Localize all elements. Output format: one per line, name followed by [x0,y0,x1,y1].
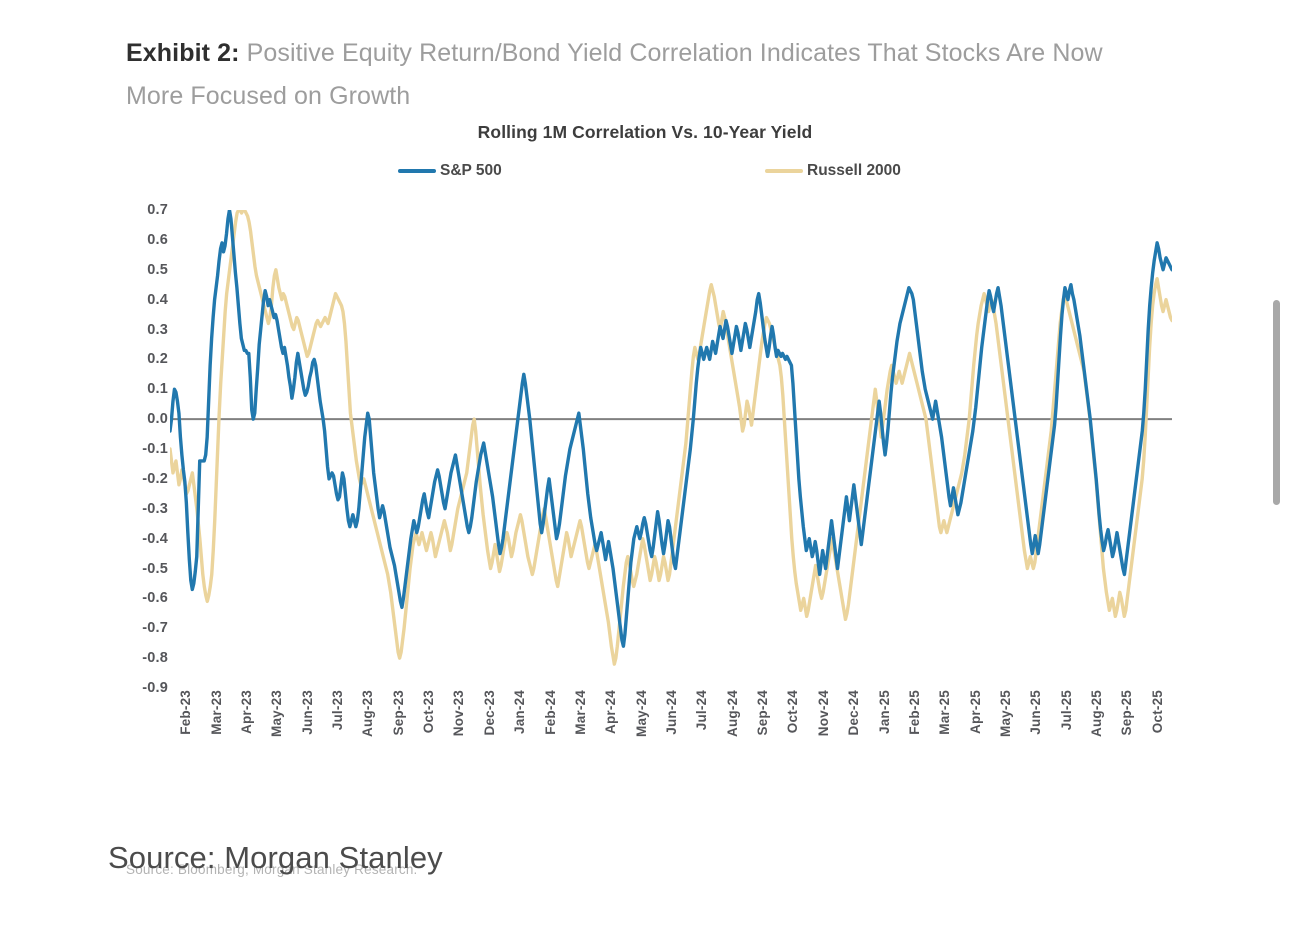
legend-swatch-sp500 [398,169,436,173]
x-axis-tick: May-23 [269,690,284,737]
exhibit-heading: Exhibit 2: Positive Equity Return/Bond Y… [126,32,1156,118]
x-axis-tick: Aug-25 [1089,690,1104,737]
x-axis-tick: Mar-24 [573,690,588,735]
bottom-caption: Source: Morgan Stanley [108,840,443,876]
y-axis-tick: -0.2 [110,471,168,487]
screenshot-root: Exhibit 2: Positive Equity Return/Bond Y… [0,0,1290,933]
x-axis-tick: Jul-24 [694,690,709,730]
x-axis-tick: Feb-25 [907,690,922,735]
chart-figure: Rolling 1M Correlation Vs. 10-Year Yield… [110,122,1180,812]
y-axis-tick: 0.5 [110,262,168,278]
y-axis-tick: 0.2 [110,351,168,367]
y-axis: 0.70.60.50.40.30.20.10.0-0.1-0.2-0.3-0.4… [110,210,168,688]
y-axis-tick: -0.4 [110,531,168,547]
x-axis-tick: Jun-24 [664,690,679,735]
y-axis-tick: 0.4 [110,292,168,308]
x-axis-tick: Aug-24 [725,690,740,737]
legend-swatch-russell2000 [765,169,803,173]
x-axis-tick: Jan-25 [877,690,892,734]
legend-item-sp500[interactable]: S&P 500 [398,162,502,180]
y-axis-tick: 0.6 [110,232,168,248]
x-axis-tick: Jun-25 [1028,690,1043,735]
x-axis-tick: Oct-23 [421,690,436,733]
y-axis-tick: -0.3 [110,501,168,517]
x-axis-tick: Jan-24 [512,690,527,734]
y-axis-tick: -0.9 [110,680,168,696]
x-axis-tick: Dec-23 [482,690,497,735]
x-axis-tick: Apr-23 [239,690,254,734]
x-axis-tick: Sep-23 [391,690,406,735]
chart-title: Rolling 1M Correlation Vs. 10-Year Yield [110,122,1180,143]
x-axis-tick: May-24 [634,690,649,737]
line-chart-svg [170,210,1172,688]
x-axis-tick: Jul-23 [330,690,345,730]
x-axis-tick: Mar-25 [937,690,952,735]
x-axis-tick: Apr-24 [603,690,618,734]
legend-item-russell2000[interactable]: Russell 2000 [765,162,901,180]
x-axis-tick: Nov-23 [451,690,466,736]
series-line-russell2000 [170,210,1172,664]
y-axis-tick: -0.8 [110,650,168,666]
y-axis-tick: 0.7 [110,202,168,218]
x-axis-tick: May-25 [998,690,1013,737]
x-axis-tick: Mar-23 [209,690,224,735]
y-axis-tick: 0.0 [110,411,168,427]
x-axis: Feb-23Mar-23Apr-23May-23Jun-23Jul-23Aug-… [170,690,1172,770]
exhibit-label: Exhibit 2: [126,39,240,67]
legend-label-sp500: S&P 500 [440,162,502,180]
y-axis-tick: 0.1 [110,381,168,397]
x-axis-tick: Sep-24 [755,690,770,735]
exhibit-title: Positive Equity Return/Bond Yield Correl… [126,39,1103,110]
x-axis-tick: Feb-24 [543,690,558,735]
chart-legend: S&P 500 Russell 2000 [110,162,1180,188]
x-axis-tick: Nov-24 [816,690,831,736]
y-axis-tick: -0.5 [110,561,168,577]
legend-label-russell2000: Russell 2000 [807,162,901,180]
x-axis-tick: Jul-25 [1059,690,1074,730]
plot-wrapper: 0.70.60.50.40.30.20.10.0-0.1-0.2-0.3-0.4… [110,210,1180,810]
plot-area [170,210,1172,688]
vertical-scrollbar-track[interactable] [1272,0,1286,933]
x-axis-tick: Sep-25 [1119,690,1134,735]
series-line-sp500 [170,210,1172,646]
vertical-scrollbar-thumb[interactable] [1273,300,1280,505]
x-axis-tick: Oct-24 [785,690,800,733]
y-axis-tick: -0.7 [110,620,168,636]
x-axis-tick: Jun-23 [300,690,315,735]
y-axis-tick: -0.1 [110,441,168,457]
x-axis-tick: Aug-23 [360,690,375,737]
x-axis-tick: Feb-23 [178,690,193,735]
x-axis-tick: Dec-24 [846,690,861,735]
y-axis-tick: 0.3 [110,322,168,338]
x-axis-tick: Apr-25 [968,690,983,734]
y-axis-tick: -0.6 [110,590,168,606]
x-axis-tick: Oct-25 [1150,690,1165,733]
